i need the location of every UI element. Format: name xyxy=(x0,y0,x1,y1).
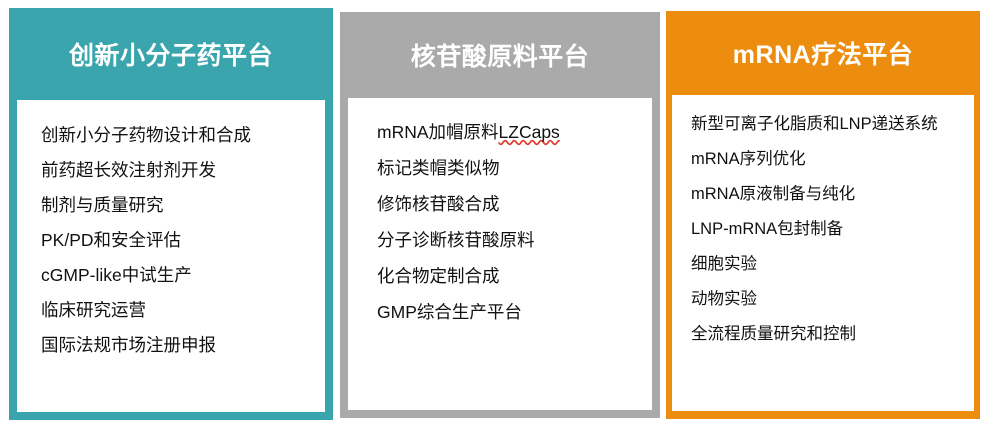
list-item: 修饰核苷酸合成 xyxy=(377,186,652,222)
platform-card-body: 创新小分子药物设计和合成 前药超长效注射剂开发 制剂与质量研究 PK/PD和安全… xyxy=(17,100,325,412)
platform-card-innovative-small-molecule: 创新小分子药平台 创新小分子药物设计和合成 前药超长效注射剂开发 制剂与质量研究… xyxy=(9,8,333,420)
list-item: GMP综合生产平台 xyxy=(377,294,652,330)
spellcheck-misspelled-word: LZCaps xyxy=(499,122,560,142)
list-item: 分子诊断核苷酸原料 xyxy=(377,222,652,258)
platform-overview-slide: 创新小分子药平台 创新小分子药物设计和合成 前药超长效注射剂开发 制剂与质量研究… xyxy=(0,0,997,428)
list-item: 国际法规市场注册申报 xyxy=(41,328,325,363)
list-item: 制剂与质量研究 xyxy=(41,188,325,223)
platform-card-nucleotide-raw-material: 核苷酸原料平台 mRNA加帽原料LZCaps 标记类帽类似物 修饰核苷酸合成 分… xyxy=(340,12,660,418)
capability-list: mRNA加帽原料LZCaps 标记类帽类似物 修饰核苷酸合成 分子诊断核苷酸原料… xyxy=(348,98,652,330)
list-item: 新型可离子化脂质和LNP递送系统 xyxy=(691,107,974,142)
platform-card-title: 创新小分子药平台 xyxy=(17,8,325,100)
list-item: LNP-mRNA包封制备 xyxy=(691,212,974,247)
list-item: 细胞实验 xyxy=(691,247,974,282)
list-item: 前药超长效注射剂开发 xyxy=(41,153,325,188)
platform-card-body: mRNA加帽原料LZCaps 标记类帽类似物 修饰核苷酸合成 分子诊断核苷酸原料… xyxy=(348,98,652,410)
list-item: 创新小分子药物设计和合成 xyxy=(41,118,325,153)
capability-list: 创新小分子药物设计和合成 前药超长效注射剂开发 制剂与质量研究 PK/PD和安全… xyxy=(17,100,325,363)
list-item: 化合物定制合成 xyxy=(377,258,652,294)
platform-card-mrna-therapy: mRNA疗法平台 新型可离子化脂质和LNP递送系统 mRNA序列优化 mRNA原… xyxy=(666,11,980,419)
list-item: PK/PD和安全评估 xyxy=(41,223,325,258)
platform-card-body: 新型可离子化脂质和LNP递送系统 mRNA序列优化 mRNA原液制备与纯化 LN… xyxy=(672,95,974,411)
list-item-text-plain: mRNA加帽原料LZCaps xyxy=(377,122,560,142)
platform-card-title: 核苷酸原料平台 xyxy=(348,12,652,98)
capability-list: 新型可离子化脂质和LNP递送系统 mRNA序列优化 mRNA原液制备与纯化 LN… xyxy=(672,95,974,352)
platform-card-title: mRNA疗法平台 xyxy=(672,11,974,95)
list-item: 全流程质量研究和控制 xyxy=(691,317,974,352)
list-item: 临床研究运营 xyxy=(41,293,325,328)
list-item: mRNA序列优化 xyxy=(691,142,974,177)
list-item: mRNA原液制备与纯化 xyxy=(691,177,974,212)
list-item: 动物实验 xyxy=(691,282,974,317)
list-item: 标记类帽类似物 xyxy=(377,150,652,186)
list-item: mRNA加帽原料LZCaps xyxy=(377,114,652,150)
list-item: cGMP-like中试生产 xyxy=(41,258,325,293)
